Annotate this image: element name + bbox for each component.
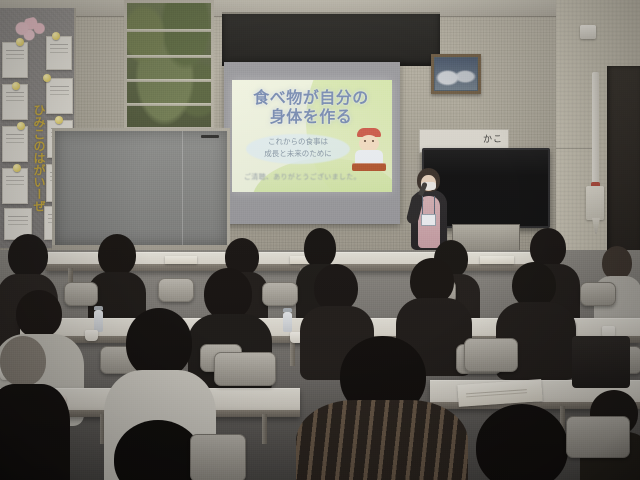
water-bottle [283,312,292,332]
framed-picture-image [435,58,477,90]
chair [464,338,518,372]
window-blind-slat [127,103,211,106]
bulletin-card [46,36,72,70]
presentation-slide: 食べ物が自分の 身体を作る これからの食事は 成長と未来のために ご清聴、ありが… [232,80,392,192]
wall-phone[interactable] [586,186,604,220]
person-head [98,234,136,276]
bulletin-card [2,42,28,78]
pin-icon [52,32,60,40]
framed-picture [431,54,481,94]
person-head [304,228,336,268]
paper-cup [85,330,98,341]
window-blind-slat [127,29,211,32]
bottle-cap [283,308,292,312]
pin-icon [43,74,51,82]
bulletin-slogan-text: ひみこのはがいーぜ [27,104,45,212]
audience-person-striped [296,336,466,480]
pin-icon [13,164,21,172]
pin-icon [55,116,63,124]
bottle-cap [94,306,103,310]
person-head [126,308,192,378]
slide-title: 食べ物が自分の 身体を作る [240,90,382,128]
slide-title-line2: 身体を作る [240,109,382,128]
chef-food-tray [352,163,386,171]
chair [214,352,276,386]
screen-housing [222,14,440,66]
person-head [476,404,568,480]
chef-eye [364,140,366,142]
person-head [314,264,358,312]
window-greenery [127,3,211,127]
handout-paper [165,256,197,264]
table-leg [290,340,295,366]
window-blind-slat [127,55,211,58]
person-head [114,420,202,480]
person-head [8,234,48,278]
bulletin-card [2,168,28,204]
slide-subtitle: これからの食事は 成長と未来のために [248,136,348,159]
chef-eye [372,140,374,142]
doorway[interactable] [607,66,640,266]
chair [190,434,246,480]
pin-icon [12,82,20,90]
window-blind-slat [127,79,211,82]
presenter-lanyard [422,196,435,215]
pin-icon [16,38,24,46]
slide-title-line1: 食べ物が自分の [240,90,382,109]
projection-screen: 食べ物が自分の 身体を作る これからの食事は 成長と未来のために ご清聴、ありが… [224,62,400,224]
shoulder-bag [572,336,630,388]
audience-person-foreground [0,336,64,480]
classroom-presentation-photo: ひみこのはがいーぜ 食べ物が自分の 身体を作る これからの食事は 成長と未来のた… [0,0,640,480]
person-torso-striped-shirt [296,400,468,480]
slide-closing-text: ご清聴、ありがとうございました。 [244,172,364,182]
paper-text-lines [466,386,526,391]
blackboard-divider [182,131,183,245]
bulletin-card [2,126,28,162]
wall-sign-text: かこ [483,132,503,145]
person-head [16,290,62,338]
presenter-name-badge [421,214,436,226]
person-torso [0,384,70,480]
table-leg [262,414,267,444]
wall-seam [556,148,596,149]
chair [580,282,616,306]
water-bottle [94,310,103,332]
person-head [602,246,632,280]
wall-speaker-icon [580,25,596,39]
bulletin-card [46,78,73,114]
wall-conduit [592,72,599,194]
chair [566,416,630,458]
blackboard-eraser [201,135,219,138]
pin-icon [17,122,25,130]
slide-subtitle-line1: これからの食事は [248,136,348,148]
window [124,0,214,130]
chef-illustration-icon [352,128,386,174]
blackboard [52,128,230,248]
person-head [0,336,46,386]
slide-subtitle-line2: 成長と未来のために [248,148,348,160]
